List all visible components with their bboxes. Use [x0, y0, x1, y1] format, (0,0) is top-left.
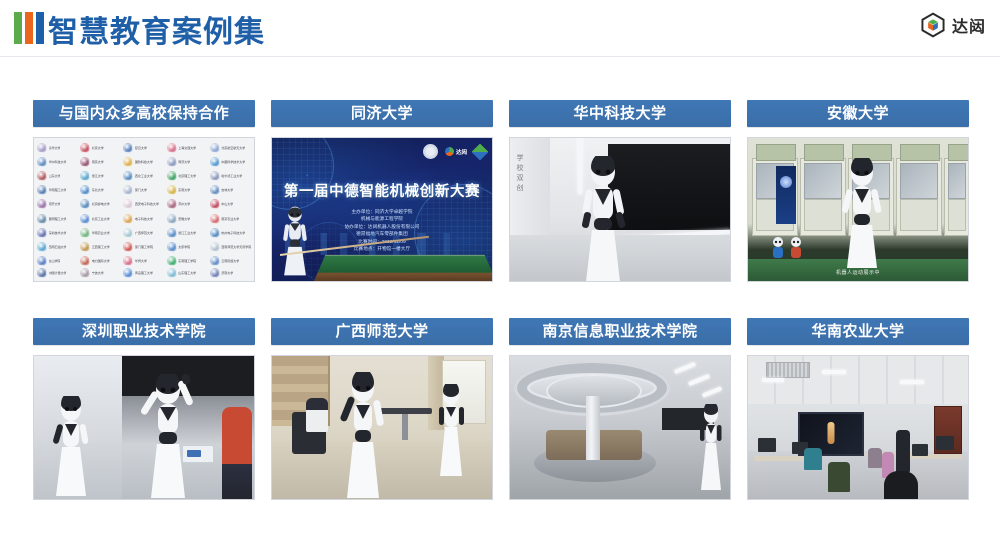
monitor — [758, 438, 776, 452]
university-seal-icon — [123, 171, 133, 181]
university-name: 东北大学 — [92, 188, 104, 192]
university-logo-item: 东北大学 — [79, 183, 122, 197]
university-seal-icon — [167, 256, 177, 266]
university-logo-item: 哈尔滨工业大学 — [209, 169, 252, 183]
university-name: 电子科技大学 — [135, 217, 153, 221]
university-logo-item: 太原学院 — [166, 240, 209, 254]
university-seal-icon — [167, 268, 177, 278]
university-logo-item: 南京大学 — [79, 155, 122, 169]
university-logo-wall: 清华大学北京大学复旦大学上海交通大学北京航空航天大学华中科技大学南京大学国防科技… — [34, 138, 254, 281]
case-card-partners[interactable]: 与国内众多高校保持合作 清华大学北京大学复旦大学上海交通大学北京航空航天大学华中… — [33, 100, 255, 318]
university-logo-item: 北京理工大学 — [166, 169, 209, 183]
card-title-tongji: 同济大学 — [271, 100, 493, 127]
banner-emblem-icon — [780, 176, 792, 188]
university-seal-icon — [80, 242, 90, 252]
university-seal-icon — [167, 143, 177, 153]
university-name: 清华大学 — [49, 146, 61, 150]
university-logo-item: 安徽大学 — [166, 212, 209, 226]
university-seal-icon — [80, 268, 90, 278]
humanoid-robot-icon — [334, 372, 392, 499]
university-name: 北京邮电大学 — [92, 202, 110, 206]
humanoid-robot-icon — [46, 396, 96, 496]
university-logo-item: 山东大学 — [36, 169, 79, 183]
competition-poster: 达闼 第一届中德智能机械创新大赛 主办单位：同济大学卓越学院机械与能源工程学院协… — [272, 138, 492, 281]
case-grid: 与国内众多高校保持合作 清华大学北京大学复旦大学上海交通大学北京航空航天大学华中… — [33, 100, 969, 536]
university-logo-item: 华南农业大学 — [79, 226, 122, 240]
hexagon-cube-logo-icon — [920, 12, 946, 38]
student-figure — [804, 448, 822, 470]
university-seal-icon — [210, 143, 220, 153]
page-title: 智慧教育案例集 — [48, 7, 265, 51]
university-name: 南京大学 — [92, 160, 104, 164]
university-seal-icon — [167, 242, 177, 252]
university-seal-icon — [210, 228, 220, 238]
university-seal-icon — [37, 199, 47, 209]
university-logo-item: 上海交通大学 — [166, 141, 209, 155]
card-media-ahu: 机器人运动展示中 — [747, 137, 969, 282]
ceiling-light — [674, 362, 696, 374]
university-name: 深圳技术大学 — [49, 231, 67, 235]
university-logo-item: 东南理工学院 — [166, 254, 209, 268]
case-card-tongji[interactable]: 同济大学 达闼 第一届中德智能机械创新大赛 主办单位：同济大学卓越学院机械与能源… — [271, 100, 493, 318]
card-media-scau — [747, 355, 969, 500]
card-media-tongji: 达闼 第一届中德智能机械创新大赛 主办单位：同济大学卓越学院机械与能源工程学院协… — [271, 137, 493, 282]
lobby-robot-photo — [510, 356, 730, 499]
university-logo-item: 中山大学 — [209, 197, 252, 211]
university-seal-icon — [210, 256, 220, 266]
cabinet-top-box — [756, 144, 796, 161]
university-seal-icon — [167, 214, 177, 224]
university-seal-icon — [80, 228, 90, 238]
foreground-person — [884, 471, 918, 499]
university-name: 山东理工大学 — [178, 271, 196, 275]
poster-corp-name: 达闼 — [456, 148, 467, 156]
university-name: 国防科技大学 — [135, 160, 153, 164]
small-robot-icon — [770, 236, 786, 262]
university-logo-item: 东南大学 — [166, 183, 209, 197]
header-divider — [0, 56, 1000, 57]
university-name: 文山学院 — [49, 259, 61, 263]
university-name: 江西理工大学 — [92, 245, 110, 249]
card-title-scau: 华南农业大学 — [747, 318, 969, 345]
university-name: 吉林大学 — [221, 188, 233, 192]
classroom-robot-photo — [272, 356, 492, 499]
robot-figure-icon — [278, 205, 312, 277]
university-logo-item: 北京工业大学 — [79, 212, 122, 226]
university-logo-item: 电力国际大学 — [79, 254, 122, 268]
university-logo-item: 苏州大学 — [166, 197, 209, 211]
university-logo-item: 同济大学 — [166, 155, 209, 169]
university-name: 厦门大学 — [135, 188, 147, 192]
university-seal-icon — [37, 143, 47, 153]
university-logo-item: 北京邮电大学 — [79, 197, 122, 211]
university-logo-item: 西安电子科技大学 — [122, 197, 165, 211]
university-seal-icon — [37, 157, 47, 167]
university-logo-item: 西北工业大学 — [122, 169, 165, 183]
dual-robot-photo — [34, 356, 254, 499]
university-name: 北京工业大学 — [92, 217, 110, 221]
university-seal-icon — [210, 171, 220, 181]
card-media-partners: 清华大学北京大学复旦大学上海交通大学北京航空航天大学华中科技大学南京大学国防科技… — [33, 137, 255, 282]
card-title-spi: 深圳职业技术学院 — [33, 318, 255, 345]
university-logo-item: 北京航空航天大学 — [209, 141, 252, 155]
university-seal-icon — [123, 268, 133, 278]
monitor — [912, 444, 928, 456]
university-seal-icon — [37, 268, 47, 278]
university-logo-item: 国防科技大学 — [122, 155, 165, 169]
university-name: 同济大学 — [178, 160, 190, 164]
university-logo-item: 云南民族大学 — [209, 254, 252, 268]
university-seal-icon — [210, 185, 220, 195]
person-figure — [222, 407, 252, 499]
university-seal-icon — [37, 228, 47, 238]
case-card-spi[interactable]: 深圳职业技术学院 — [33, 318, 255, 536]
partner-logo-icon — [472, 143, 489, 160]
university-name: 太原学院 — [178, 245, 190, 249]
university-logo-item: 济南大学 — [209, 268, 252, 278]
computer-classroom-photo — [748, 356, 968, 499]
university-logo-item: 电子科技大学 — [122, 212, 165, 226]
university-logo-item: 吉林大学 — [209, 183, 252, 197]
university-logo-item: 南京农业大学 — [209, 212, 252, 226]
university-logo-item: 文山学院 — [36, 254, 79, 268]
university-name: 昆明理工大学 — [49, 217, 67, 221]
university-logo-item: 华南理工大学 — [36, 183, 79, 197]
university-name: 华侨大学 — [135, 259, 147, 263]
university-logo-item: 浙江工业大学 — [166, 226, 209, 240]
ceiling-light — [688, 374, 710, 386]
university-name: 中国计量大学 — [49, 271, 67, 275]
university-name: 华南农业大学 — [92, 231, 110, 235]
university-seal-icon — [80, 143, 90, 153]
university-logo-item: 青岛理工大学 — [122, 268, 165, 278]
university-logo-item: 山东理工大学 — [166, 268, 209, 278]
university-seal-icon — [80, 171, 90, 181]
university-name: 华南理工大学 — [49, 188, 67, 192]
university-name: 南开大学 — [49, 202, 61, 206]
university-logo-item: 浙江大学 — [79, 169, 122, 183]
university-name: 北京大学 — [92, 146, 104, 150]
cabinet-top-box — [948, 144, 968, 161]
corporate-logo: 达闼 — [920, 12, 986, 38]
monitor — [936, 436, 954, 450]
lab-cabinet — [944, 158, 968, 236]
cabinet-top-box — [900, 144, 940, 161]
teacher-figure — [896, 430, 910, 472]
university-logo-item: 江西理工大学 — [79, 240, 122, 254]
university-seal-icon — [80, 157, 90, 167]
card-media-hust: 学校双创 — [509, 137, 731, 282]
university-name: 宁波大学 — [92, 271, 104, 275]
ceiling-vent — [766, 362, 810, 378]
university-seal-icon — [37, 256, 47, 266]
university-logo-item: 厦门理工学院 — [122, 240, 165, 254]
ceiling-light — [900, 380, 924, 384]
university-seal-icon — [123, 228, 133, 238]
university-name: 复旦大学 — [135, 146, 147, 150]
university-name: 北京航空航天大学 — [221, 146, 245, 150]
university-seal-icon — [80, 214, 90, 224]
photo-caption: 机器人运动展示中 — [836, 269, 880, 276]
university-seal-icon — [80, 256, 90, 266]
card-title-njcit: 南京信息职业技术学院 — [509, 318, 731, 345]
ceiling-light — [702, 386, 722, 397]
card-title-partners: 与国内众多高校保持合作 — [33, 100, 255, 127]
university-seal-icon — [37, 171, 47, 181]
university-name: 南京农业大学 — [221, 217, 239, 221]
university-name: 广西师范大学 — [135, 231, 153, 235]
university-logo-item: 南开大学 — [36, 197, 79, 211]
university-name: 西南石油大学 — [49, 245, 67, 249]
university-name: 中山大学 — [221, 202, 233, 206]
university-name: 中国科学技术大学 — [221, 160, 245, 164]
university-name: 山东大学 — [49, 174, 61, 178]
university-name: 云南民族大学 — [221, 259, 239, 263]
university-seal-icon — [167, 171, 177, 181]
university-seal-icon — [123, 143, 133, 153]
card-media-njcit — [509, 355, 731, 500]
university-seal-icon — [123, 185, 133, 195]
page-header: 智慧教育案例集 达闼 — [0, 0, 1000, 56]
university-seal-icon — [423, 144, 438, 159]
wall-vertical-text: 学校双创 — [514, 154, 524, 194]
case-card-hust[interactable]: 华中科技大学 学校双创 — [509, 100, 731, 318]
university-seal-icon — [123, 242, 133, 252]
university-logo-item: 中国科学技术大学 — [209, 155, 252, 169]
university-logo-item: 深圳技术大学 — [36, 226, 79, 240]
case-card-gxnu[interactable]: 广西师范大学 — [271, 318, 493, 536]
seated-person — [306, 398, 328, 432]
card-media-spi — [33, 355, 255, 500]
university-seal-icon — [123, 157, 133, 167]
university-name: 杭州电子科技大学 — [221, 231, 245, 235]
university-seal-icon — [80, 185, 90, 195]
university-seal-icon — [167, 185, 177, 195]
university-logo-item: 清华大学 — [36, 141, 79, 155]
screen-robot-graphic — [828, 422, 835, 444]
card-title-hust: 华中科技大学 — [509, 100, 731, 127]
university-name: 哈尔滨工业大学 — [221, 174, 242, 178]
university-seal-icon — [210, 268, 220, 278]
university-logo-item: 昆明理工大学 — [36, 212, 79, 226]
university-seal-icon — [80, 199, 90, 209]
humanoid-robot-icon — [572, 156, 634, 281]
university-logo-item: 北京大学 — [79, 141, 122, 155]
poster-corp-logo: 达闼 — [445, 147, 467, 156]
card-title-ahu: 安徽大学 — [747, 100, 969, 127]
cube-logo-icon — [445, 147, 454, 156]
humanoid-robot-icon — [138, 374, 198, 499]
university-seal-icon — [167, 157, 177, 167]
university-seal-icon — [37, 242, 47, 252]
university-seal-icon — [210, 214, 220, 224]
brand-bar-orange — [25, 12, 33, 44]
university-name: 西北工业大学 — [135, 174, 153, 178]
university-name: 东南大学 — [178, 188, 190, 192]
university-seal-icon — [210, 157, 220, 167]
university-logo-item: 华侨大学 — [122, 254, 165, 268]
case-card-njcit[interactable]: 南京信息职业技术学院 — [509, 318, 731, 536]
ceiling-light — [762, 378, 784, 382]
university-logo-item: 厦门大学 — [122, 183, 165, 197]
university-seal-icon — [37, 185, 47, 195]
university-logo-item: 西南师范大学天府学院 — [209, 240, 252, 254]
university-name: 电力国际大学 — [92, 259, 110, 263]
roll-up-banner — [776, 166, 796, 224]
university-name: 西安电子科技大学 — [135, 202, 159, 206]
university-seal-icon — [210, 199, 220, 209]
university-name: 青岛理工大学 — [135, 271, 153, 275]
university-name: 苏州大学 — [178, 202, 190, 206]
poster-main-title: 第一届中德智能机械创新大赛 — [272, 180, 492, 201]
university-name: 北京理工大学 — [178, 174, 196, 178]
humanoid-robot-icon — [432, 384, 470, 478]
card-media-gxnu — [271, 355, 493, 500]
university-seal-icon — [167, 199, 177, 209]
card-title-gxnu: 广西师范大学 — [271, 318, 493, 345]
lab-cabinet — [896, 158, 942, 236]
university-logo-item: 复旦大学 — [122, 141, 165, 155]
brand-bars-decoration — [14, 12, 44, 44]
brand-bar-green — [14, 12, 22, 44]
university-logo-item: 中国计量大学 — [36, 268, 79, 278]
student-figure — [828, 462, 850, 492]
university-name: 东南理工学院 — [178, 259, 196, 263]
university-name: 西南师范大学天府学院 — [221, 245, 251, 249]
university-logo-item: 宁波大学 — [79, 268, 122, 278]
corporate-name: 达闼 — [952, 13, 986, 37]
university-name: 华中科技大学 — [49, 160, 67, 164]
university-seal-icon — [37, 214, 47, 224]
lab-cabinets-robot-photo: 机器人运动展示中 — [748, 138, 968, 281]
student-figure — [868, 448, 882, 468]
university-seal-icon — [123, 199, 133, 209]
computer-desk — [902, 454, 962, 459]
university-name: 上海交通大学 — [178, 146, 196, 150]
university-logo-item: 广西师范大学 — [122, 226, 165, 240]
poster-logo-row: 达闼 — [423, 144, 486, 159]
small-robot-icon — [788, 236, 804, 262]
brand-bar-blue — [36, 12, 44, 44]
case-card-scau[interactable]: 华南农业大学 — [747, 318, 969, 536]
humanoid-robot-icon — [696, 404, 726, 492]
university-seal-icon — [167, 228, 177, 238]
university-logo-item: 华中科技大学 — [36, 155, 79, 169]
university-seal-icon — [123, 214, 133, 224]
university-logo-item: 西南石油大学 — [36, 240, 79, 254]
corridor-robot-photo: 学校双创 — [510, 138, 730, 281]
university-name: 厦门理工学院 — [135, 245, 153, 249]
university-name: 安徽大学 — [178, 217, 190, 221]
university-logo-item: 杭州电子科技大学 — [209, 226, 252, 240]
university-name: 浙江大学 — [92, 174, 104, 178]
university-name: 济南大学 — [221, 271, 233, 275]
center-column — [586, 396, 600, 460]
humanoid-robot-icon — [834, 158, 890, 268]
university-seal-icon — [210, 242, 220, 252]
university-seal-icon — [123, 256, 133, 266]
case-card-ahu[interactable]: 安徽大学 — [747, 100, 969, 318]
ceiling-light — [822, 370, 846, 374]
pool-table-decoration — [314, 255, 492, 281]
university-name: 浙江工业大学 — [178, 231, 196, 235]
